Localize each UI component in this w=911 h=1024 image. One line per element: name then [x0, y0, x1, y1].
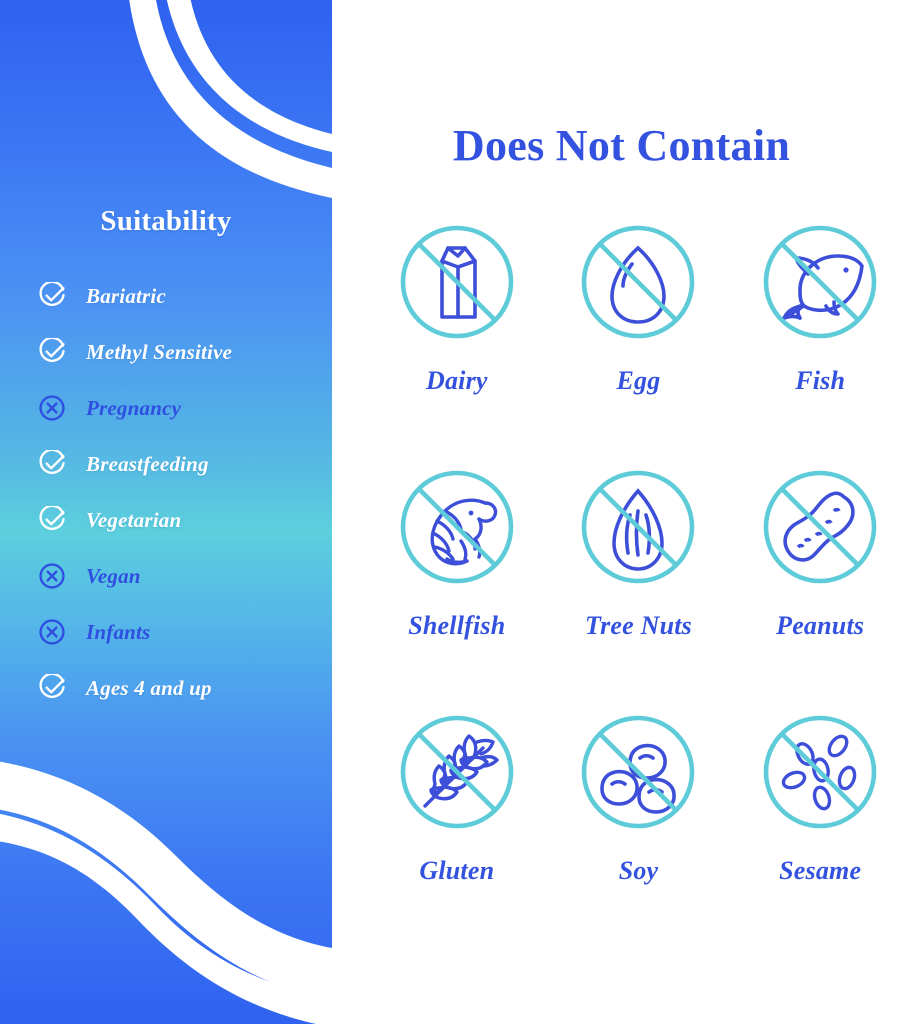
suitability-item-label: Breastfeeding [86, 452, 209, 477]
suitability-item-label: Ages 4 and up [86, 676, 212, 701]
allergen-label: Peanuts [776, 611, 864, 641]
suitability-item-infants: Infants [38, 604, 332, 660]
allergen-label: Gluten [419, 856, 494, 886]
page-title: Does Not Contain [332, 120, 911, 171]
allergen-label: Dairy [426, 366, 488, 396]
allergen-item-tree-nuts: Tree Nuts [548, 457, 730, 702]
no-fish-icon [750, 212, 890, 352]
suitability-item-bariatric: Bariatric [38, 268, 332, 324]
suitability-item-label: Pregnancy [86, 396, 181, 421]
allergen-item-peanuts: Peanuts [729, 457, 911, 702]
allergen-item-dairy: Dairy [366, 212, 548, 457]
suitability-item-vegetarian: Vegetarian [38, 492, 332, 548]
allergen-label: Tree Nuts [585, 611, 692, 641]
suitability-item-vegan: Vegan [38, 548, 332, 604]
bottom-wave-curve-1 [0, 760, 332, 1000]
suitability-panel: Suitability Bariatric Methyl Sensitive [0, 0, 332, 1024]
check-circle-icon [38, 506, 66, 534]
allergen-label: Soy [619, 856, 659, 886]
allergen-item-fish: Fish [729, 212, 911, 457]
x-circle-icon [38, 618, 66, 646]
check-circle-icon [38, 450, 66, 478]
no-gluten-icon [387, 702, 527, 842]
allergen-item-soy: Soy [548, 702, 730, 947]
does-not-contain-panel: Does Not Contain Dairy [332, 0, 911, 1024]
allergen-label: Sesame [779, 856, 861, 886]
check-circle-icon [38, 338, 66, 366]
x-circle-icon [38, 562, 66, 590]
suitability-item-label: Bariatric [86, 284, 166, 309]
no-dairy-icon [387, 212, 527, 352]
x-circle-icon [38, 394, 66, 422]
suitability-item-breastfeeding: Breastfeeding [38, 436, 332, 492]
no-sesame-icon [750, 702, 890, 842]
no-soy-icon [568, 702, 708, 842]
allergen-item-shellfish: Shellfish [366, 457, 548, 702]
no-tree-nuts-icon [568, 457, 708, 597]
suitability-item-ages-4-and-up: Ages 4 and up [38, 660, 332, 716]
allergen-item-gluten: Gluten [366, 702, 548, 947]
allergen-label: Shellfish [408, 611, 505, 641]
check-circle-icon [38, 674, 66, 702]
no-shellfish-icon [387, 457, 527, 597]
no-egg-icon [568, 212, 708, 352]
suitability-item-pregnancy: Pregnancy [38, 380, 332, 436]
allergen-item-sesame: Sesame [729, 702, 911, 947]
suitability-item-label: Methyl Sensitive [86, 340, 232, 365]
allergen-item-egg: Egg [548, 212, 730, 457]
allergen-label: Fish [795, 366, 845, 396]
suitability-item-label: Infants [86, 620, 150, 645]
suitability-item-label: Vegetarian [86, 508, 181, 533]
top-wave-arc-2 [162, 0, 332, 152]
suitability-heading: Suitability [0, 205, 332, 238]
suitability-item-methyl-sensitive: Methyl Sensitive [38, 324, 332, 380]
check-circle-icon [38, 282, 66, 310]
allergen-label: Egg [617, 366, 661, 396]
infographic-page: Suitability Bariatric Methyl Sensitive [0, 0, 911, 1024]
bottom-wave-curve-2 [0, 812, 332, 1024]
allergen-grid: Dairy Egg [366, 212, 911, 947]
no-peanuts-icon [750, 457, 890, 597]
suitability-list: Bariatric Methyl Sensitive Pregnancy [38, 268, 332, 716]
suitability-item-label: Vegan [86, 564, 141, 589]
